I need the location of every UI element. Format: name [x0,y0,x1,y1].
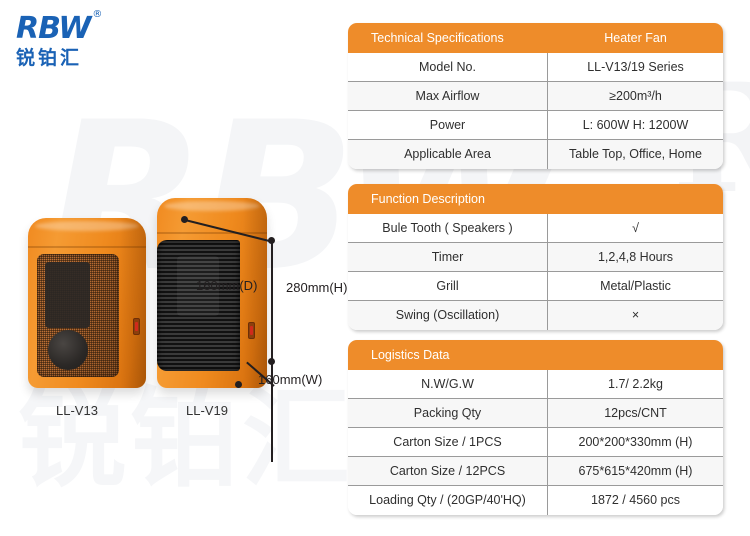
table-row: Bule Tooth ( Speakers ) √ [348,214,723,243]
row-value: 1872 / 4560 pcs [548,486,723,515]
shell-side-shading-v19 [243,198,267,388]
table-row: Loading Qty / (20GP/40'HQ) 1872 / 4560 p… [348,486,723,515]
row-value: L: 600W H: 1200W [548,111,723,140]
power-switch-v19[interactable] [248,322,255,339]
row-value: × [548,301,723,330]
dim-line-height [271,240,273,462]
dim-dot-width-start [268,358,275,365]
row-label: Max Airflow [348,82,548,111]
logo-cjk-text: 锐铂汇 [16,49,90,68]
dim-label-height: 280mm(H) [286,280,347,295]
dim-label-depth: 160mm(D) [196,278,257,293]
table-row: Applicable Area Table Top, Office, Home [348,140,723,169]
table-header-row: Function Description [348,184,723,214]
row-value: 200*200*330mm (H) [548,428,723,457]
row-value: 675*615*420mm (H) [548,457,723,486]
table-header-row: Technical Specifications Heater Fan [348,23,723,53]
dim-label-width: 160mm(W) [258,372,322,387]
row-label: Grill [348,272,548,301]
row-value: 1,2,4,8 Hours [548,243,723,272]
table-row: Carton Size / 1PCS 200*200*330mm (H) [348,428,723,457]
row-value: Metal/Plastic [548,272,723,301]
table-row: Power L: 600W H: 1200W [348,111,723,140]
product-photo-ll-v13 [28,218,146,388]
table-row: Timer 1,2,4,8 Hours [348,243,723,272]
row-label: Carton Size / 1PCS [348,428,548,457]
logistics-data-table: Logistics Data N.W/G.W 1.7/ 2.2kg Packin… [348,340,723,515]
table-row: Model No. LL-V13/19 Series [348,53,723,82]
table-row: Max Airflow ≥200m³/h [348,82,723,111]
function-description-table: Function Description Bule Tooth ( Speake… [348,184,723,330]
table-row: Grill Metal/Plastic [348,272,723,301]
row-value: ≥200m³/h [548,82,723,111]
registered-trademark-icon: ® [92,10,101,20]
table-row: Swing (Oscillation) × [348,301,723,330]
row-label: Bule Tooth ( Speakers ) [348,214,548,243]
row-label: Power [348,111,548,140]
row-label: N.W/G.W [348,370,548,399]
table-header-row: Logistics Data [348,340,723,370]
row-label: Applicable Area [348,140,548,169]
row-label: Carton Size / 12PCS [348,457,548,486]
row-value: √ [548,214,723,243]
row-value: LL-V13/19 Series [548,53,723,82]
row-label: Loading Qty / (20GP/40'HQ) [348,486,548,515]
heating-element-v13 [45,262,90,328]
technical-specifications-table: Technical Specifications Heater Fan Mode… [348,23,723,169]
row-label: Model No. [348,53,548,82]
table-header-value-title [548,184,723,214]
dim-dot-width-end [235,381,242,388]
product-caption-ll-v19: LL-V19 [186,403,228,418]
product-image-panel: 160mm(D) 280mm(H) 160mm(W) LL-V13 LL-V19 [0,100,345,430]
row-label: Timer [348,243,548,272]
row-value: 1.7/ 2.2kg [548,370,723,399]
product-caption-ll-v13: LL-V13 [56,403,98,418]
shell-side-shading-v13 [120,218,146,388]
power-switch-v13[interactable] [133,318,140,335]
table-header-value-title: Heater Fan [548,23,723,53]
dim-dot-depth-start [181,216,188,223]
logo-wordmark: RBW [16,11,90,46]
logo-latin-text: RBW® [16,14,90,44]
table-header-title: Function Description [348,184,548,214]
specification-tables: Technical Specifications Heater Fan Mode… [345,0,750,536]
table-row: Packing Qty 12pcs/CNT [348,399,723,428]
table-row: Carton Size / 12PCS 675*615*420mm (H) [348,457,723,486]
table-header-title: Technical Specifications [348,23,548,53]
speaker-driver-v13 [48,330,88,370]
table-header-value-title [548,340,723,370]
table-header-title: Logistics Data [348,340,548,370]
row-value: Table Top, Office, Home [548,140,723,169]
row-label: Packing Qty [348,399,548,428]
brand-logo: RBW® 锐铂汇 [16,14,90,68]
table-row: N.W/G.W 1.7/ 2.2kg [348,370,723,399]
row-value: 12pcs/CNT [548,399,723,428]
row-label: Swing (Oscillation) [348,301,548,330]
dim-dot-depth-end [268,237,275,244]
